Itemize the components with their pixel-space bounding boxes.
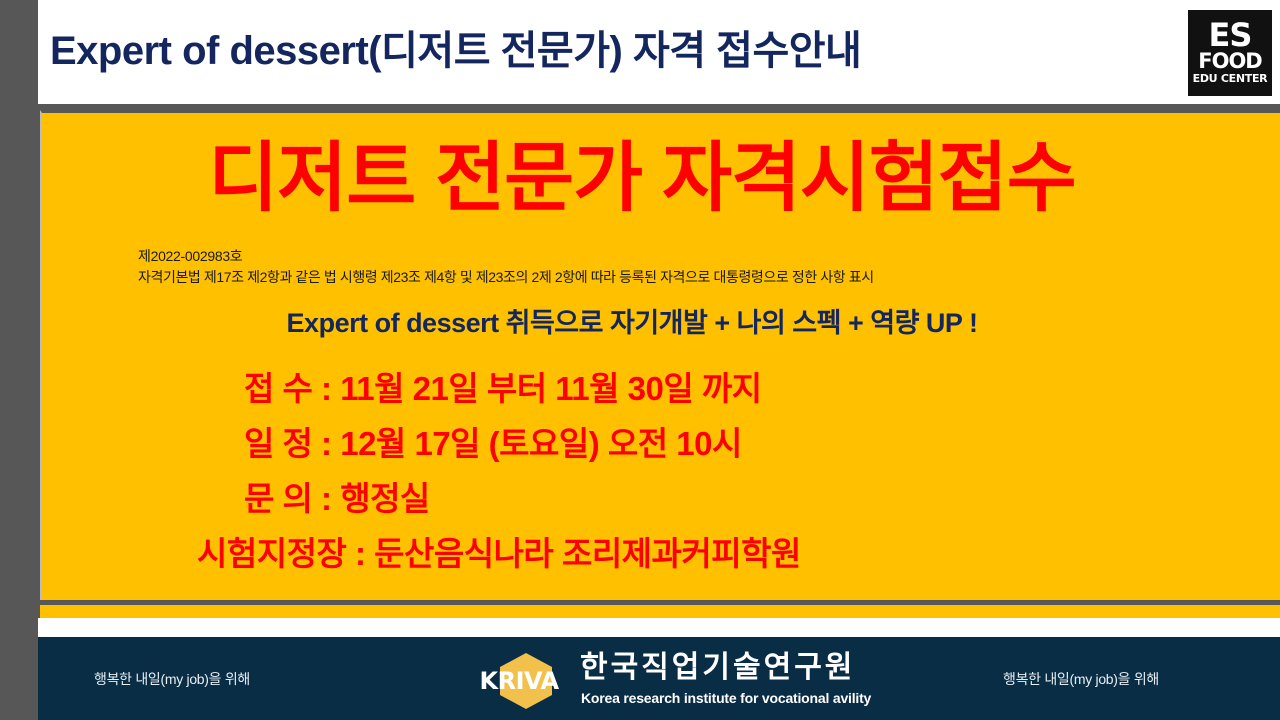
page-title: Expert of dessert(디저트 전문가) 자격 접수안내 [50, 22, 1150, 80]
kriva-organization-logo: KRIVA 한국직업기술연구원 Korea research institute… [438, 645, 898, 715]
main-yellow-panel: 디저트 전문가 자격시험접수 제2022-002983호 자격기본법 제17조 … [40, 110, 1280, 602]
detail-registration-period: 접 수 : 11월 21일 부터 11월 30일 까지 [197, 361, 1197, 416]
yellow-accent-strip [40, 605, 1280, 618]
footer-slogan-left: 행복한 내일(my job)을 위해 [94, 669, 250, 689]
header-band: Expert of dessert(디저트 전문가) 자격 접수안내 [38, 0, 1280, 104]
registration-number: 제2022-002983호 [138, 247, 242, 266]
organization-korean-name: 한국직업기술연구원 [580, 649, 855, 687]
detail-inquiry: 문 의 : 행정실 [197, 471, 1197, 526]
tagline-text: Expert of dessert 취득으로 자기개발 + 나의 스펙 + 역량… [42, 305, 1222, 341]
es-logo-line-food: FOOD [1198, 50, 1261, 72]
poster-root: Expert of dessert(디저트 전문가) 자격 접수안내 ES FO… [0, 0, 1280, 720]
kriva-hexagon-mark: KRIVA [463, 659, 575, 703]
detail-exam-venue: 시험지정장 : 둔산음식나라 조리제과커피학원 [197, 526, 1197, 581]
es-food-edu-center-logo: ES FOOD EDU CENTER [1188, 10, 1272, 96]
es-logo-line-es: ES [1209, 20, 1252, 50]
footer-bar: 행복한 내일(my job)을 위해 KRIVA 한국직업기술연구원 Korea… [38, 637, 1280, 720]
legal-notice: 자격기본법 제17조 제2항과 같은 법 시행령 제23조 제4항 및 제23조… [138, 268, 874, 287]
detail-exam-schedule: 일 정 : 12월 17일 (토요일) 오전 10시 [197, 416, 1197, 471]
white-gap-strip [38, 618, 1280, 637]
footer-slogan-right: 행복한 내일(my job)을 위해 [1003, 669, 1159, 689]
kriva-wordmark: KRIVA [463, 668, 575, 694]
headline-text: 디저트 전문가 자격시험접수 [42, 135, 1242, 223]
es-logo-line-educenter: EDU CENTER [1193, 72, 1268, 86]
detail-list: 접 수 : 11월 21일 부터 11월 30일 까지 일 정 : 12월 17… [197, 361, 1197, 581]
organization-english-name: Korea research institute for vocational … [581, 689, 871, 707]
